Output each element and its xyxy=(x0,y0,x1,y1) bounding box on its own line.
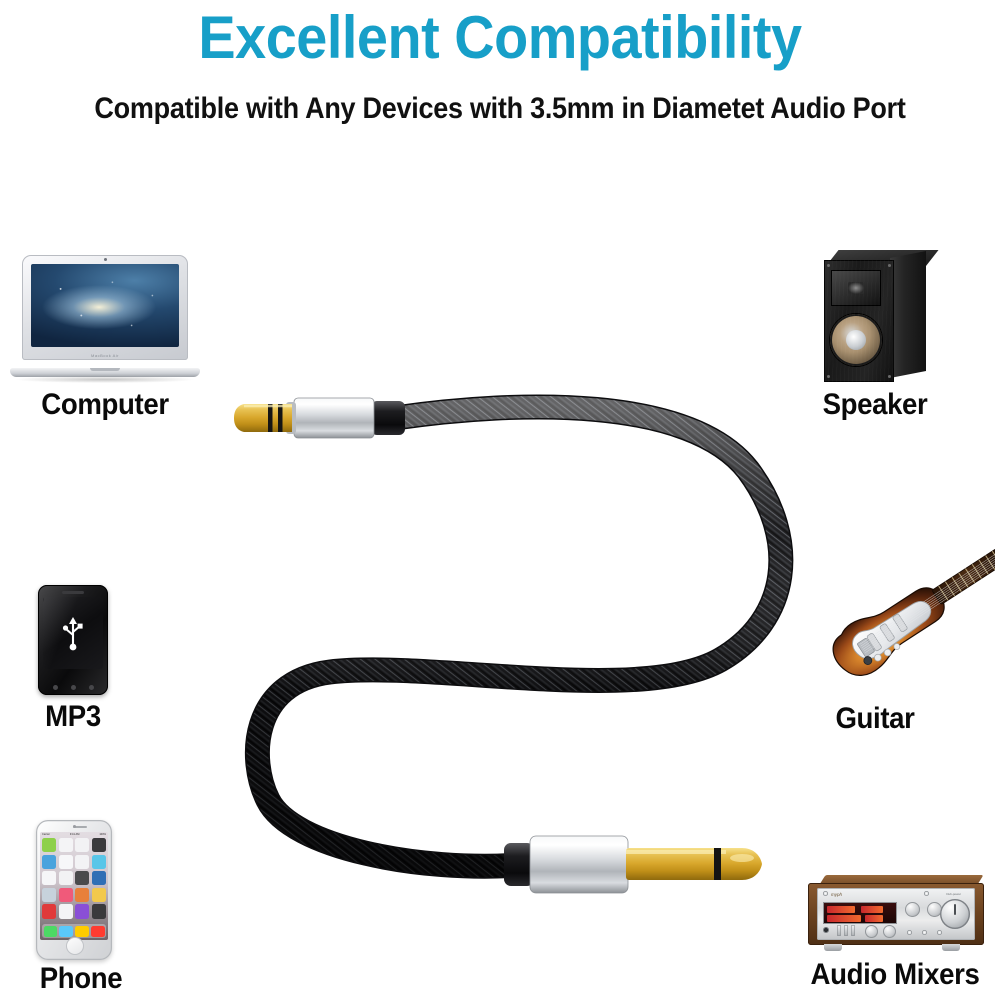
mp3-player-icon xyxy=(38,585,108,695)
laptop-screen xyxy=(31,264,179,347)
device-guitar xyxy=(815,505,995,705)
infographic-canvas: Excellent Compatibility Compatible with … xyxy=(0,0,1000,1000)
mixer-brand-text: myph xyxy=(831,892,842,897)
phone-app-icon xyxy=(92,904,106,918)
mixer-indicator-led xyxy=(924,891,929,896)
phone-app-icon xyxy=(42,904,56,918)
phone-app-icon xyxy=(42,855,56,869)
device-label-phone: Phone xyxy=(12,962,150,996)
mp3-buttons xyxy=(38,685,108,690)
mixer-small-knob[interactable] xyxy=(907,930,912,935)
mixer-small-knob[interactable] xyxy=(937,930,942,935)
mixer-power-button[interactable] xyxy=(823,927,829,933)
connector-3.5mm xyxy=(234,398,405,438)
audio-cable-illustration xyxy=(0,0,1000,1000)
connector-6.35mm xyxy=(504,836,762,893)
device-label-audio-mixers: Audio Mixers xyxy=(798,958,991,992)
phone-app-icon xyxy=(75,904,89,918)
phone-app-icon xyxy=(75,888,89,902)
mp3-screen xyxy=(43,597,103,669)
laptop-camera-icon xyxy=(104,258,107,261)
phone-app-icon xyxy=(75,855,89,869)
phone-app-icon xyxy=(42,838,56,852)
page-title: Excellent Compatibility xyxy=(35,6,965,69)
phone-dock-icon xyxy=(59,926,73,937)
phone-screen: Carrier 9:41 AM 100% xyxy=(40,832,108,940)
mixer-knob-treble[interactable] xyxy=(883,925,896,938)
phone-dock-icon xyxy=(44,926,58,937)
speaker-screw xyxy=(888,264,891,267)
smartphone-icon: Carrier 9:41 AM 100% xyxy=(36,820,112,960)
phone-dock-icon xyxy=(75,926,89,937)
phone-time-text: 9:41 AM xyxy=(70,833,80,836)
phone-app-icon xyxy=(42,888,56,902)
phone-app-icon xyxy=(59,871,73,885)
mixer-power-led xyxy=(823,891,828,896)
laptop-brand-text: MacBook Air xyxy=(22,353,188,358)
page-subtitle: Compatible with Any Devices with 3.5mm i… xyxy=(50,92,950,125)
device-computer: MacBook Air xyxy=(10,255,200,385)
mixer-switch[interactable] xyxy=(837,925,841,936)
speaker-screw xyxy=(888,375,891,378)
speaker-woofer xyxy=(830,314,882,366)
device-speaker xyxy=(820,250,930,385)
device-phone: Carrier 9:41 AM 100% xyxy=(36,820,112,960)
mp3-earpiece xyxy=(62,591,84,594)
mp3-button-home xyxy=(71,685,76,690)
phone-app-icon xyxy=(92,855,106,869)
phone-app-icon xyxy=(59,888,73,902)
laptop-icon: MacBook Air xyxy=(22,255,188,360)
phone-home-button xyxy=(66,937,84,955)
phone-dock xyxy=(42,924,106,938)
phone-app-icon xyxy=(59,838,73,852)
mp3-button-menu xyxy=(89,685,94,690)
phone-status-bar: Carrier 9:41 AM 100% xyxy=(40,832,108,837)
phone-app-icon xyxy=(92,871,106,885)
phone-app-icon xyxy=(59,855,73,869)
phone-app-icon xyxy=(75,871,89,885)
device-mp3 xyxy=(38,585,108,695)
laptop-shadow xyxy=(16,376,194,383)
mixer-right-label: Dub-power xyxy=(946,892,961,896)
device-label-mp3: MP3 xyxy=(13,700,133,734)
laptop-notch xyxy=(90,368,120,371)
phone-battery-text: 100% xyxy=(99,833,106,836)
mp3-button-back xyxy=(53,685,58,690)
speaker-tweeter-horn xyxy=(831,270,881,306)
speaker-icon xyxy=(824,260,894,382)
mixer-switch[interactable] xyxy=(844,925,848,936)
mixer-knob-bal[interactable] xyxy=(905,902,920,917)
phone-camera-icon xyxy=(73,825,76,828)
mixer-foot xyxy=(824,944,842,951)
device-label-guitar: Guitar xyxy=(806,702,944,736)
mixer-foot xyxy=(942,944,960,951)
phone-dock-icon xyxy=(91,926,105,937)
mixer-small-knob[interactable] xyxy=(922,930,927,935)
phone-app-icon xyxy=(92,838,106,852)
phone-app-grid xyxy=(42,838,106,919)
usb-icon xyxy=(58,613,88,653)
mixer-vu-meter xyxy=(823,902,897,924)
speaker-screw xyxy=(827,264,830,267)
speaker-screw xyxy=(827,375,830,378)
audio-mixer-icon: myph Dub-power xyxy=(808,883,984,945)
guitar-icon xyxy=(815,505,995,705)
mixer-faceplate: myph Dub-power xyxy=(817,888,975,940)
phone-app-icon xyxy=(42,871,56,885)
mixer-volume-dial[interactable] xyxy=(940,899,970,929)
phone-carrier-text: Carrier xyxy=(42,833,50,836)
device-audio-mixers: myph Dub-power xyxy=(808,875,984,957)
phone-app-icon xyxy=(59,904,73,918)
device-label-computer: Computer xyxy=(18,388,193,422)
phone-app-icon xyxy=(92,888,106,902)
phone-app-icon xyxy=(75,838,89,852)
device-label-speaker: Speaker xyxy=(811,388,940,422)
mixer-knob-bass[interactable] xyxy=(865,925,878,938)
mixer-switch[interactable] xyxy=(851,925,855,936)
speaker-side-panel xyxy=(890,251,926,378)
